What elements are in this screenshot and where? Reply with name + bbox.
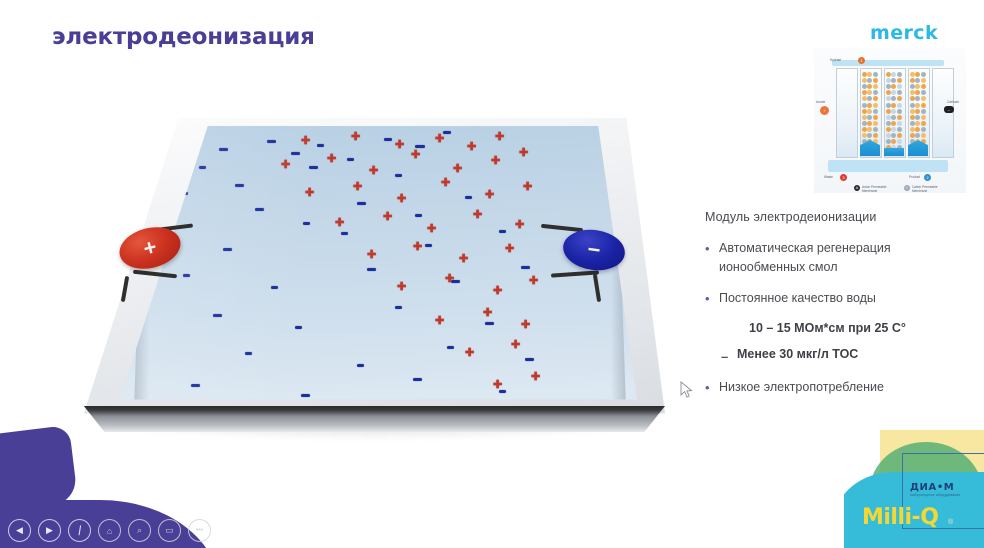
edi-resin-bead <box>921 109 926 114</box>
negative-ion <box>341 232 348 235</box>
positive-ion: ✚ <box>395 140 404 151</box>
edi-node-product: 2 <box>924 174 931 181</box>
tank-base <box>75 406 665 432</box>
edi-legend-cation-marker: C <box>904 185 910 191</box>
negative-ion <box>223 248 232 251</box>
edi-resin-bead <box>873 72 878 77</box>
edi-module-diagram: 1Hydrate+Anode–Cathode3Waste2ProductAAni… <box>814 48 966 193</box>
positive-ion: ✚ <box>383 212 392 223</box>
negative-ion <box>395 174 402 177</box>
edi-resin-bead <box>910 121 915 126</box>
negative-ion <box>271 286 278 289</box>
diam-logo-subtitle: лабораторное оборудование <box>910 493 961 497</box>
negative-ion <box>499 230 506 233</box>
cathode-sign: − <box>561 226 628 274</box>
edi-resin-bead <box>886 72 891 77</box>
edi-resin-bead <box>862 133 867 138</box>
edi-resin-bead <box>886 109 891 114</box>
negative-ion <box>465 196 472 199</box>
negative-ion <box>317 144 324 147</box>
prev-slide-icon: ◀ <box>16 525 23 536</box>
edi-node-waste: 3 <box>840 174 847 181</box>
pen-tool-button[interactable]: / <box>68 519 91 542</box>
edi-label-cathode: Cathode <box>947 100 959 104</box>
positive-ion: ✚ <box>531 372 540 383</box>
negative-ion <box>357 364 364 367</box>
positive-ion: ✚ <box>495 132 504 143</box>
edi-resin-bead <box>862 115 867 120</box>
edi-resin-bead <box>921 115 926 120</box>
content-bullet-item: •Низкое электропотребление <box>705 378 977 398</box>
positive-ion: ✚ <box>397 282 406 293</box>
content-bullet-item: •Автоматическая регенерация ионообменных… <box>705 239 977 277</box>
positive-ion: ✚ <box>327 154 336 165</box>
negative-ion <box>357 202 366 205</box>
content-text-column: Модуль электродеионизации •Автоматическа… <box>705 210 977 410</box>
positive-ion: ✚ <box>511 340 520 351</box>
content-sub-value: 10 – 15 МОм*см при 25 C° <box>749 321 977 335</box>
edi-resin-bead <box>897 127 902 132</box>
negative-ion <box>213 314 222 317</box>
positive-ion: ✚ <box>473 210 482 221</box>
bullet-text: Низкое электропотребление <box>719 378 977 398</box>
edi-resin-bead <box>886 103 891 108</box>
positive-ion: ✚ <box>435 134 444 145</box>
positive-ion: ✚ <box>427 224 436 235</box>
edi-resin-bead <box>873 84 878 89</box>
edi-resin-bead <box>873 127 878 132</box>
positive-ion: ✚ <box>483 308 492 319</box>
edi-resin-bead <box>921 121 926 126</box>
edi-legend-anion: Anion Permeable Membrane <box>862 185 900 193</box>
negative-ion <box>447 346 454 349</box>
negative-ion <box>110 170 120 173</box>
edi-node-hydrate: 1 <box>858 57 865 64</box>
negative-ion <box>183 274 190 277</box>
presentation-toolbar[interactable]: ◀▶/⌂⌕▭••• <box>8 519 211 542</box>
edi-resin-bead <box>862 103 867 108</box>
positive-ion: ✚ <box>353 182 362 193</box>
positive-ion: ✚ <box>491 156 500 167</box>
positive-ion: ✚ <box>411 150 420 161</box>
positive-ion: ✚ <box>493 380 502 391</box>
negative-ion <box>521 266 530 269</box>
negative-ion <box>384 138 392 141</box>
edi-resin-bead <box>921 103 926 108</box>
home-button[interactable]: ⌂ <box>98 519 121 542</box>
cathode-electrode: − <box>561 226 628 274</box>
next-slide-icon: ▶ <box>46 525 53 536</box>
zoom-button[interactable]: ⌕ <box>128 519 151 542</box>
edi-resin-bead <box>867 103 872 108</box>
presentation-slide: электродеонизация ✚✚✚✚✚✚✚✚✚✚✚✚✚✚✚✚✚✚✚✚✚✚… <box>0 0 984 548</box>
edi-resin-bead <box>897 121 902 126</box>
negative-ion <box>485 322 494 325</box>
positive-ion: ✚ <box>521 320 530 331</box>
electrodeionization-tank-illustration: ✚✚✚✚✚✚✚✚✚✚✚✚✚✚✚✚✚✚✚✚✚✚✚✚✚✚✚✚✚✚✚✚✚✚✚✚✚✚✚ … <box>55 100 675 450</box>
edi-label-anode: Anode <box>816 100 825 104</box>
brand-corner: ДИА•М лабораторное оборудование Milli-Q … <box>844 430 984 548</box>
negative-ion <box>191 384 200 387</box>
negative-ion <box>235 184 244 187</box>
negative-ion <box>219 148 228 151</box>
edi-resin-bead <box>873 115 878 120</box>
edi-resin-bead <box>873 109 878 114</box>
edi-outlet-band <box>828 160 948 172</box>
positive-ion: ✚ <box>369 166 378 177</box>
negative-ion <box>367 268 376 271</box>
positive-ion: ✚ <box>367 250 376 261</box>
negative-ion <box>291 152 300 155</box>
edi-cell-1 <box>836 68 858 158</box>
edi-resin-bead <box>910 103 915 108</box>
negative-ion <box>443 131 451 134</box>
positive-ion: ✚ <box>523 182 532 193</box>
edi-legend-cation: Cation Permeable Membrane <box>912 185 952 193</box>
edi-resin-bead <box>873 121 878 126</box>
edi-resin-bead <box>910 115 915 120</box>
prev-slide-button[interactable]: ◀ <box>8 519 31 542</box>
positive-ion: ✚ <box>413 242 422 253</box>
edi-label-hydrate: Hydrate <box>830 58 841 62</box>
edi-resin-bead <box>897 72 902 77</box>
edi-resin-bead <box>862 72 867 77</box>
edi-resin-bead <box>910 133 915 138</box>
positive-ion: ✚ <box>335 218 344 229</box>
negative-ion <box>131 200 140 203</box>
edi-pool-center <box>884 148 904 156</box>
edi-resin-bead <box>921 72 926 77</box>
negative-ion <box>199 166 206 169</box>
more-options-icon: ••• <box>196 527 203 534</box>
edi-resin-bead <box>886 133 891 138</box>
edi-resin-bead <box>915 103 920 108</box>
negative-ion <box>413 378 422 381</box>
content-bullet-item: •Постоянное качество воды <box>705 289 977 309</box>
milliq-logo: Milli-Q <box>862 505 938 530</box>
edi-resin-bead <box>862 109 867 114</box>
edi-resin-bead <box>897 103 902 108</box>
edi-resin-bead <box>862 127 867 132</box>
positive-ion: ✚ <box>459 254 468 265</box>
present-icon: ▭ <box>165 525 174 536</box>
edi-resin-bead <box>897 133 902 138</box>
content-bullet-list: •Автоматическая регенерация ионообменных… <box>705 239 977 398</box>
home-icon: ⌂ <box>107 526 112 536</box>
edi-resin-bead <box>897 115 902 120</box>
negative-ion <box>255 208 264 211</box>
negative-ion <box>415 145 425 148</box>
dash-glyph: – <box>721 347 737 367</box>
negative-ion <box>525 358 534 361</box>
next-slide-button[interactable]: ▶ <box>38 519 61 542</box>
edi-resin-bead <box>862 121 867 126</box>
positive-ion: ✚ <box>519 148 528 159</box>
bullet-text: Автоматическая регенерация ионообменных … <box>719 239 977 277</box>
negative-ion <box>451 280 460 283</box>
milliq-trademark: ® <box>948 519 953 526</box>
edi-cell-5 <box>932 68 954 158</box>
edi-resin-bead <box>891 103 896 108</box>
positive-ion: ✚ <box>485 190 494 201</box>
page-title: электродеонизация <box>52 24 315 50</box>
edi-inlet-pipe <box>832 60 944 66</box>
edi-resin-bead <box>873 103 878 108</box>
edi-resin-bead <box>921 133 926 138</box>
positive-ion: ✚ <box>397 194 406 205</box>
positive-ion: ✚ <box>351 132 360 143</box>
diam-logo: ДИА•М <box>910 482 954 493</box>
mouse-pointer-icon <box>680 381 693 399</box>
bullet-glyph: • <box>705 289 719 309</box>
edi-cathode-node: – <box>944 106 954 113</box>
edi-resin-bead <box>873 133 878 138</box>
dash-text: Менее 30 мкг/л ТОС <box>737 347 977 367</box>
edi-label-waste: Waste <box>824 175 833 179</box>
pen-tool-icon: / <box>77 523 82 538</box>
present-button[interactable]: ▭ <box>158 519 181 542</box>
negative-ion <box>309 166 318 169</box>
negative-ion <box>425 244 432 247</box>
edi-resin-bead <box>921 84 926 89</box>
positive-ion: ✚ <box>441 178 450 189</box>
merck-logo: merck <box>870 22 938 44</box>
edi-resin-bead <box>897 139 902 144</box>
more-options-button[interactable]: ••• <box>188 519 211 542</box>
positive-ion: ✚ <box>493 286 502 297</box>
negative-ion <box>137 144 144 147</box>
edi-resin-bead <box>921 78 926 83</box>
positive-ion: ✚ <box>281 160 290 171</box>
negative-ion <box>267 140 276 143</box>
positive-ion: ✚ <box>465 348 474 359</box>
positive-ion: ✚ <box>453 164 462 175</box>
edi-resin-bead <box>910 72 915 77</box>
zoom-icon: ⌕ <box>137 525 142 536</box>
edi-resin-bead <box>886 115 891 120</box>
bullet-text: Постоянное качество воды <box>719 289 977 309</box>
edi-resin-bead <box>921 127 926 132</box>
edi-resin-bead <box>897 84 902 89</box>
content-heading: Модуль электродеионизации <box>705 210 977 224</box>
edi-resin-bead <box>910 109 915 114</box>
positive-ion: ✚ <box>515 220 524 231</box>
edi-resin-bead <box>897 109 902 114</box>
negative-ion <box>415 214 422 217</box>
edi-resin-bead <box>886 121 891 126</box>
negative-ion <box>395 306 402 309</box>
edi-label-product: Product <box>909 175 920 179</box>
negative-ion <box>347 158 354 161</box>
negative-ion <box>499 390 506 393</box>
positive-ion: ✚ <box>467 142 476 153</box>
content-dash-item: –Менее 30 мкг/л ТОС <box>721 347 977 367</box>
positive-ion: ✚ <box>301 136 310 147</box>
positive-ion: ✚ <box>435 316 444 327</box>
bullet-glyph: • <box>705 378 719 398</box>
positive-ion: ✚ <box>305 188 314 199</box>
negative-ion <box>245 352 252 355</box>
edi-legend-anion-marker: A <box>854 185 860 191</box>
bullet-glyph: • <box>705 239 719 277</box>
negative-ion <box>295 326 302 329</box>
positive-ion: ✚ <box>529 276 538 287</box>
edi-resin-bead <box>897 78 902 83</box>
edi-resin-bead <box>910 127 915 132</box>
negative-ion <box>303 222 310 225</box>
edi-resin-bead <box>873 78 878 83</box>
negative-ion <box>301 394 310 397</box>
positive-ion: ✚ <box>505 244 514 255</box>
edi-resin-bead <box>886 127 891 132</box>
positive-ion: ✚ <box>445 274 454 285</box>
edi-anode-node: + <box>820 106 829 115</box>
